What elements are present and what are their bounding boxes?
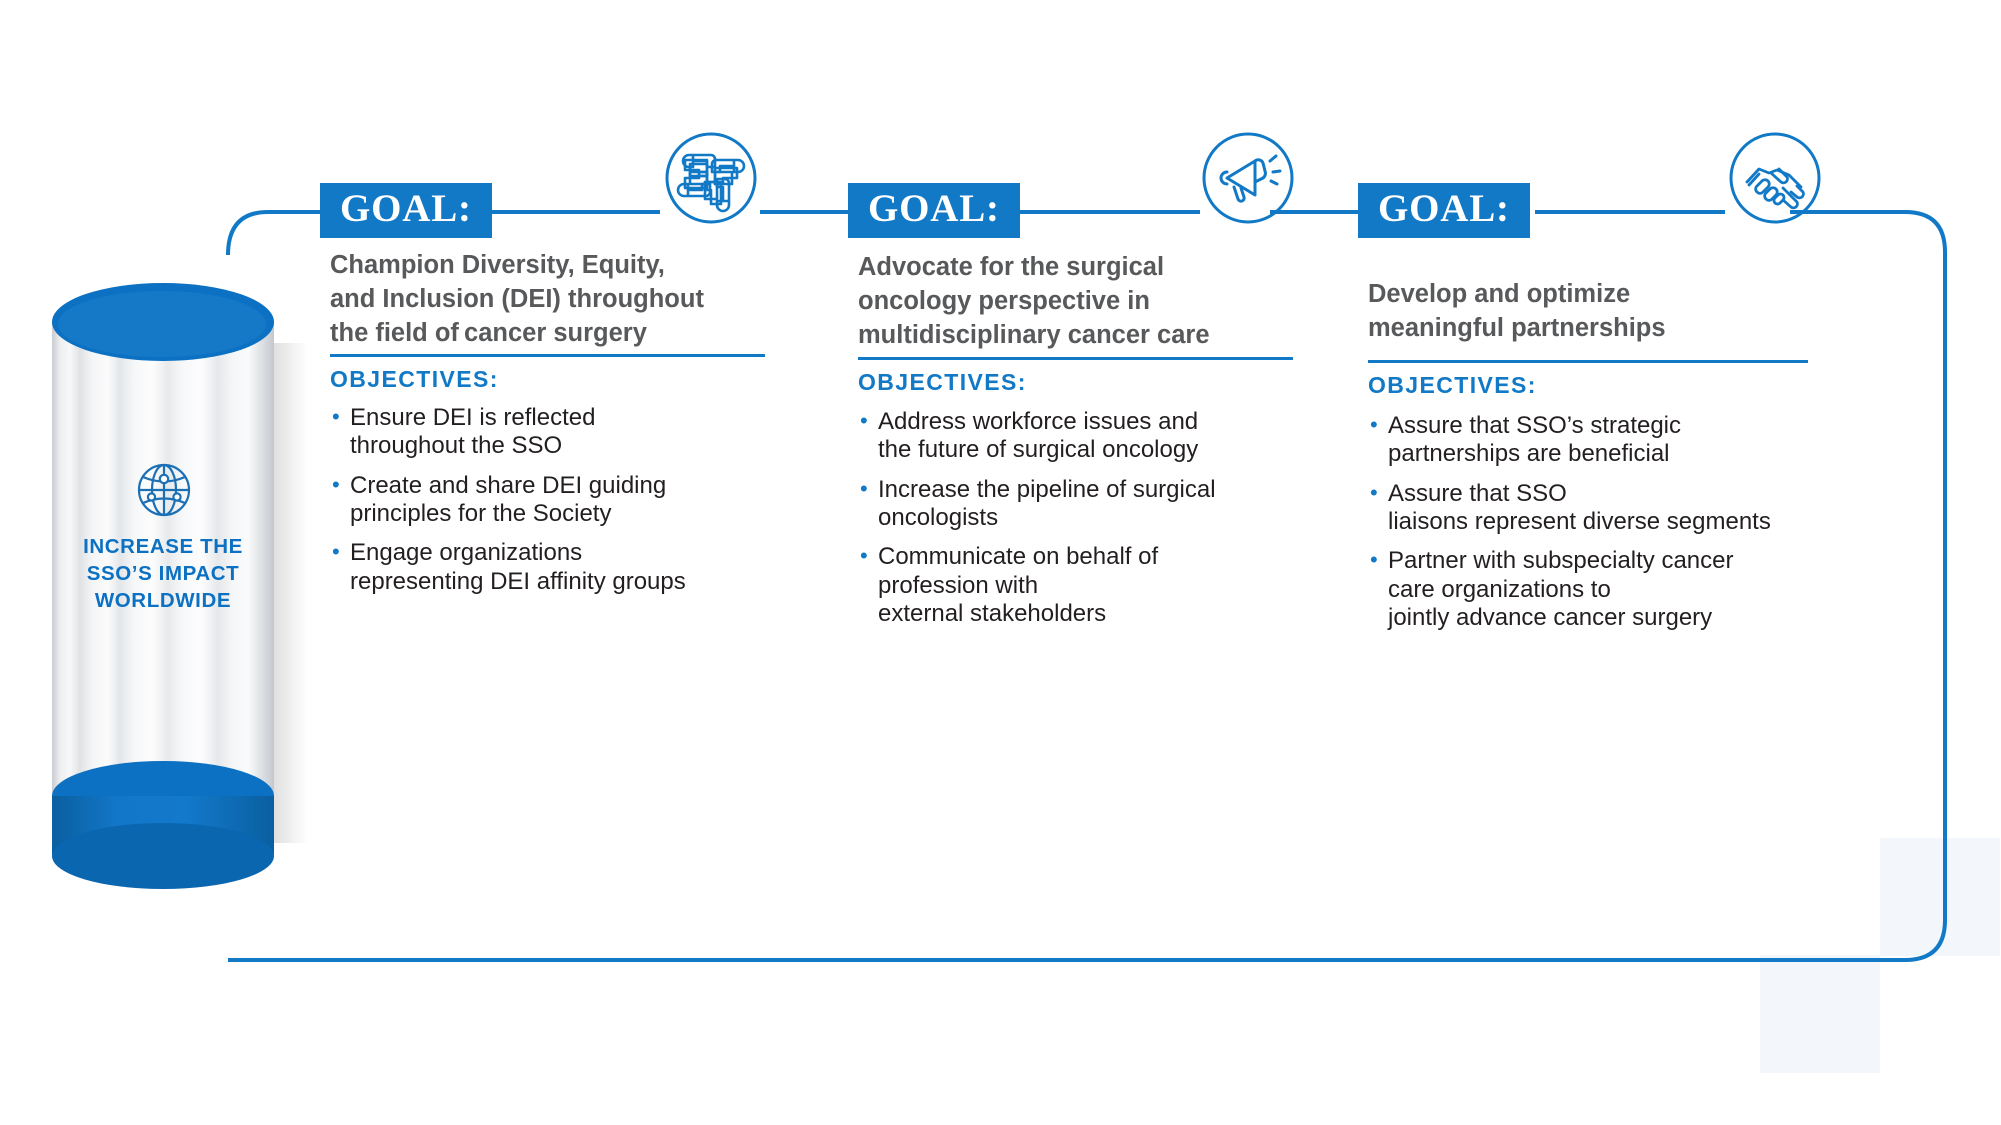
divider-rule-3 <box>1368 360 1808 363</box>
goal-title-3: Develop and optimize meaningful partners… <box>1368 277 1838 345</box>
objective-line: Partner with subspecialty cancer <box>1388 547 1870 575</box>
handshake-icon <box>1727 130 1823 226</box>
objectives-heading-3: OBJECTIVES: <box>1368 372 1537 399</box>
objective-line: representing DEI affinity groups <box>350 568 782 596</box>
goal-title-1: Champion Diversity, Equity, and Inclusio… <box>330 248 780 350</box>
goal-badge-3: GOAL: <box>1358 183 1530 238</box>
objective-line: principles for the Society <box>350 500 782 528</box>
pillar-cap-inner <box>58 291 266 357</box>
infographic-canvas: INCREASE THE SSO’S IMPACT WORLDWIDE GOAL… <box>0 0 2001 1125</box>
pillar-label-line: SSO’S IMPACT <box>58 560 268 587</box>
objective-line: partnerships are beneficial <box>1388 440 1870 468</box>
objectives-heading-1: OBJECTIVES: <box>330 366 499 393</box>
objective-line: oncologists <box>878 504 1320 532</box>
divider-rule-1 <box>330 354 765 357</box>
objective-line: Increase the pipeline of surgical <box>878 476 1320 504</box>
objective-line: jointly advance cancer surgery <box>1388 604 1870 632</box>
objective-line: Create and share DEI guiding <box>350 472 782 500</box>
pillar-cap <box>52 283 274 361</box>
objective-line: Communicate on behalf of <box>878 543 1320 571</box>
objective-line: Address workforce issues and <box>878 408 1320 436</box>
objective-line: external stakeholders <box>878 600 1320 628</box>
objective-item: Communicate on behalf of profession with… <box>860 543 1320 628</box>
goal-title-line: the field of cancer surgery <box>330 316 780 350</box>
objective-item: Address workforce issues and the future … <box>860 408 1320 465</box>
megaphone-icon <box>1200 130 1296 226</box>
objective-line: Ensure DEI is reflected <box>350 404 782 432</box>
pillar-label-line: INCREASE THE <box>58 533 268 560</box>
divider-rule-2 <box>858 357 1293 360</box>
objective-item: Create and share DEI guiding principles … <box>332 472 782 529</box>
goal-title-line: multidisciplinary cancer care <box>858 318 1308 352</box>
pillar-shadow <box>274 343 308 843</box>
objectives-list-1: Ensure DEI is reflected throughout the S… <box>332 404 782 607</box>
objective-line: throughout the SSO <box>350 432 782 460</box>
objective-item: Increase the pipeline of surgical oncolo… <box>860 476 1320 533</box>
objective-line: the future of surgical oncology <box>878 436 1320 464</box>
objective-line: Engage organizations <box>350 539 782 567</box>
goal-badge-1: GOAL: <box>320 183 492 238</box>
goal-title-2: Advocate for the surgical oncology persp… <box>858 250 1308 352</box>
objective-line: Assure that SSO’s strategic <box>1388 412 1870 440</box>
objective-item: Assure that SSO liaisons represent diver… <box>1370 480 1870 537</box>
objectives-list-2: Address workforce issues and the future … <box>860 408 1320 639</box>
objective-item: Partner with subspecialty cancer care or… <box>1370 547 1870 632</box>
globe-icon <box>132 458 196 522</box>
four-hands-icon <box>663 130 759 226</box>
objective-line: Assure that SSO <box>1388 480 1870 508</box>
pillar-label-line: WORLDWIDE <box>58 587 268 614</box>
goal-title-line: Advocate for the surgical <box>858 250 1308 284</box>
objectives-list-3: Assure that SSO’s strategic partnerships… <box>1370 412 1870 643</box>
objective-item: Engage organizations representing DEI af… <box>332 539 782 596</box>
goal-title-line: meaningful partnerships <box>1368 311 1838 345</box>
objective-line: profession with <box>878 572 1320 600</box>
goal-badge-2: GOAL: <box>848 183 1020 238</box>
pillar-base-bottom <box>52 823 274 889</box>
decorative-rect-1 <box>1880 838 2000 956</box>
goal-title-line: and Inclusion (DEI) throughout <box>330 282 780 316</box>
decorative-rect-2 <box>1760 955 1880 1073</box>
pillar-graphic: INCREASE THE SSO’S IMPACT WORLDWIDE <box>52 283 274 908</box>
objectives-heading-2: OBJECTIVES: <box>858 369 1027 396</box>
objective-item: Ensure DEI is reflected throughout the S… <box>332 404 782 461</box>
objective-item: Assure that SSO’s strategic partnerships… <box>1370 412 1870 469</box>
objective-line: liaisons represent diverse segments <box>1388 508 1870 536</box>
pillar-label: INCREASE THE SSO’S IMPACT WORLDWIDE <box>58 533 268 614</box>
goal-title-line: oncology perspective in <box>858 284 1308 318</box>
goal-title-line: Champion Diversity, Equity, <box>330 248 780 282</box>
goal-title-line: Develop and optimize <box>1368 277 1838 311</box>
objective-line: care organizations to <box>1388 576 1870 604</box>
